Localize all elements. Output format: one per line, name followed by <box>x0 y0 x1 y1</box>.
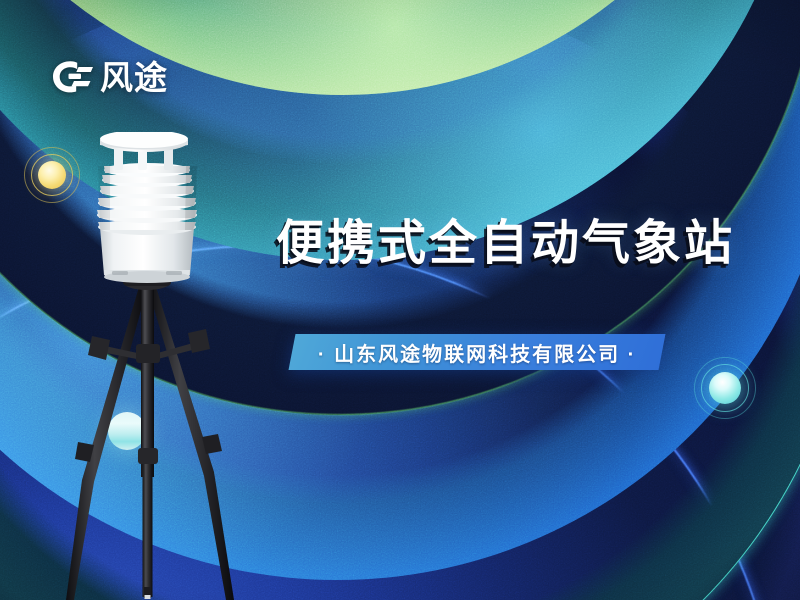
tripod-brace-spider <box>96 341 200 363</box>
leg-clamp-left <box>88 336 110 360</box>
leg-clamp-right <box>188 329 210 353</box>
sensor-body-housing <box>100 227 194 283</box>
radiation-shield-top-disc <box>100 132 188 152</box>
brand-logo-text: 风途 <box>100 61 168 94</box>
company-name-text: · 山东风途物联网科技有限公司 · <box>318 338 636 367</box>
headline-text: 便携式全自动气象站 <box>276 203 735 273</box>
louvered-radiation-shield <box>97 163 197 235</box>
fengtu-g-speedlines-icon <box>48 58 94 96</box>
banner-canvas: 风途 便携式全自动气象站 · 山东风途物联网科技有限公司 · <box>0 0 800 600</box>
portable-automatic-weather-station <box>38 132 248 600</box>
tripod-center-column <box>141 282 154 599</box>
company-name-banner: · 山东风途物联网科技有限公司 · <box>289 334 666 370</box>
leg-clamp-center <box>138 448 158 464</box>
brand-logo: 风途 <box>48 58 168 96</box>
